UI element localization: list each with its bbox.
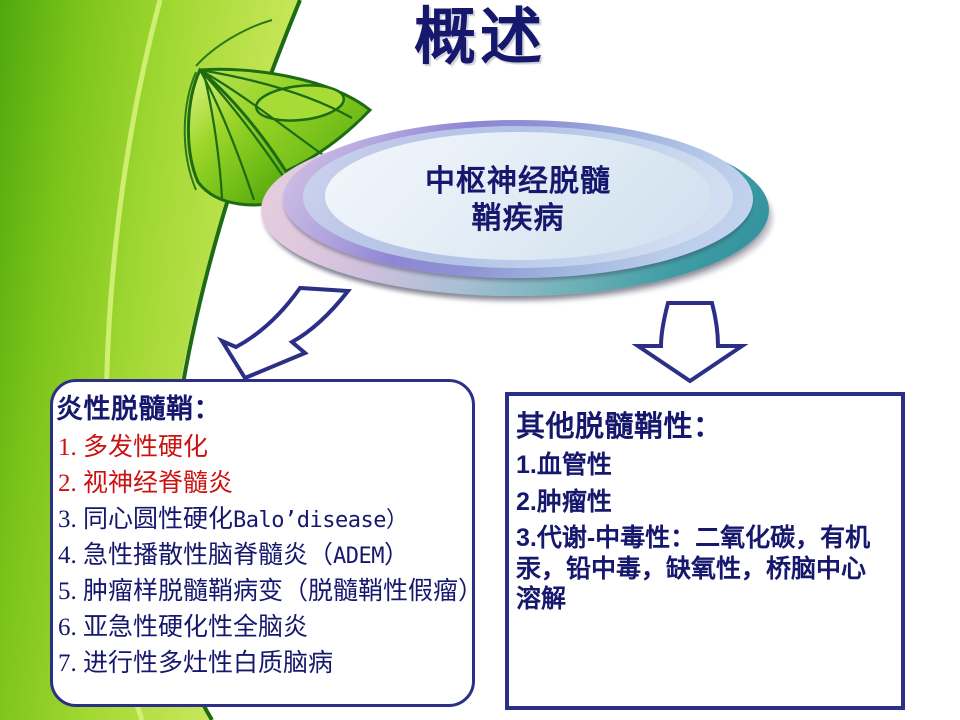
left-box-heading: 炎性脱髓鞘： xyxy=(50,384,570,430)
item-number: 5. xyxy=(58,578,77,605)
item-label: 同心圆性硬化 xyxy=(83,506,233,533)
item-number: 3. xyxy=(58,506,77,533)
list-item: 1.血管性 xyxy=(516,447,906,484)
item-tail: ） xyxy=(384,542,409,569)
slide-canvas: 概述 中枢神经脱髓 鞘疾病 炎性脱髓鞘： 1. 多发性硬化 2. 视神经脊髓炎 … xyxy=(0,0,960,720)
list-item: 6. 亚急性硬化性全脑炎 xyxy=(50,610,570,646)
slide-title: 概述 xyxy=(0,6,960,71)
list-item: 4. 急性播散性脑脊髓炎（ADEM） xyxy=(50,538,570,574)
oval-label: 中枢神经脱髓 鞘疾病 xyxy=(325,142,711,260)
item-latin: Balo’disease） xyxy=(233,508,407,533)
oval-label-line1: 中枢神经脱髓 xyxy=(425,164,611,201)
inflammatory-demyelination-content: 炎性脱髓鞘： 1. 多发性硬化 2. 视神经脊髓炎 3. 同心圆性硬化Balo’… xyxy=(50,384,570,682)
list-item: 3.代谢-中毒性：二氧化碳，有机汞，铅中毒，缺氧性，桥脑中心溶解 xyxy=(516,520,886,618)
item-label: 亚急性硬化性全脑炎 xyxy=(83,614,308,641)
list-item: 7. 进行性多灶性白质脑病 xyxy=(50,646,570,682)
item-number: 2. xyxy=(58,470,77,497)
item-number: 7. xyxy=(58,650,77,677)
item-label: 多发性硬化 xyxy=(83,434,208,461)
oval-label-line2: 鞘疾病 xyxy=(472,201,565,238)
arrow-down-icon xyxy=(638,303,742,381)
item-latin: ADEM xyxy=(333,544,384,569)
list-item: 5. 肿瘤样脱髓鞘病变（脱髓鞘性假瘤） xyxy=(50,574,570,610)
central-concept-oval: 中枢神经脱髓 鞘疾病 xyxy=(255,118,775,303)
item-label: 视神经脊髓炎 xyxy=(83,470,233,497)
item-label: 急性播散性脑脊髓炎（ xyxy=(83,542,333,569)
item-number: 4. xyxy=(58,542,77,569)
list-item: 1. 多发性硬化 xyxy=(50,430,570,466)
item-number: 6. xyxy=(58,614,77,641)
right-box-heading: 其他脱髓鞘性： xyxy=(516,400,906,447)
item-label: 肿瘤样脱髓鞘病变（脱髓鞘性假瘤） xyxy=(83,578,483,605)
list-item: 2.肿瘤性 xyxy=(516,484,906,521)
item-label: 进行性多灶性白质脑病 xyxy=(83,650,333,677)
list-item: 2. 视神经脊髓炎 xyxy=(50,466,570,502)
list-item: 3. 同心圆性硬化Balo’disease） xyxy=(50,502,570,538)
item-number: 1. xyxy=(58,434,77,461)
other-demyelination-content: 其他脱髓鞘性： 1.血管性 2.肿瘤性 3.代谢-中毒性：二氧化碳，有机汞，铅中… xyxy=(516,400,906,618)
